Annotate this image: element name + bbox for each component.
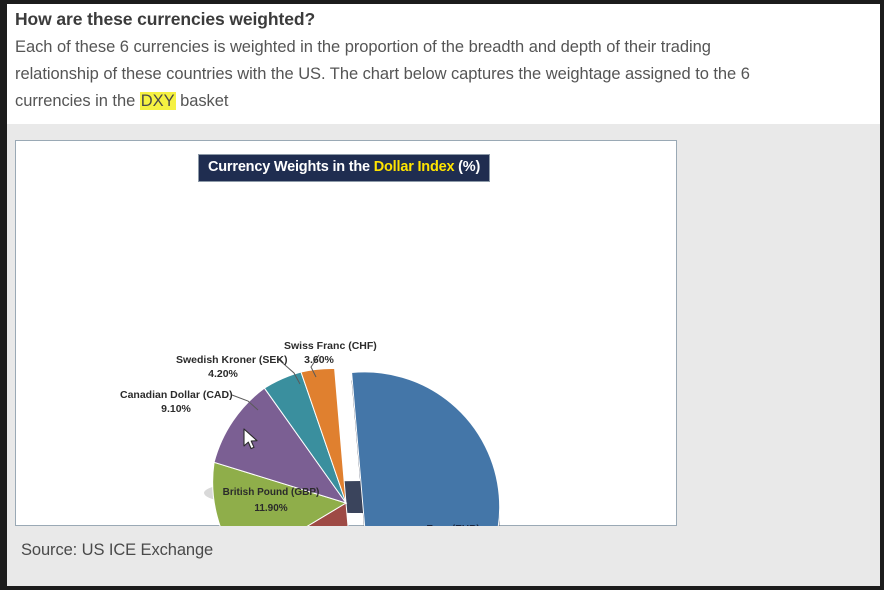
intro-block: How are these currencies weighted? Each …	[15, 8, 871, 115]
chart-title: Currency Weights in the Dollar Index (%)	[198, 154, 490, 182]
label-swiss-franc-value: 3.60%	[304, 354, 334, 366]
chart-frame[interactable]: Swiss Franc (CHF) 3.60% Swedish Kroner (…	[15, 140, 677, 526]
document-body: How are these currencies weighted? Each …	[7, 4, 880, 586]
pie-slice-euro[interactable]	[352, 372, 500, 527]
page-title: How are these currencies weighted?	[15, 8, 871, 31]
pie-label-swedish-kroner: Swedish Kroner (SEK) 4.20%	[176, 354, 287, 380]
pie-label-swiss-franc: Swiss Franc (CHF) 3.60%	[284, 340, 377, 366]
chart-title-part2: (%)	[454, 159, 480, 175]
pie-slice-euro-group[interactable]	[352, 372, 500, 527]
intro-line-3-pre: currencies in the	[15, 92, 140, 110]
pie-chart-svg[interactable]: Swiss Franc (CHF) 3.60% Swedish Kroner (…	[16, 141, 678, 527]
source-label: Source: US ICE Exchange	[21, 541, 213, 560]
label-swiss-franc-name: Swiss Franc (CHF)	[284, 340, 377, 352]
screenshot-root: How are these currencies weighted? Each …	[0, 0, 884, 590]
intro-paragraph: Each of these 6 currencies is weighted i…	[15, 34, 871, 115]
pie-label-canadian-dollar: Canadian Dollar (CAD) 9.10%	[120, 389, 233, 415]
label-british-pound-value: 11.90%	[254, 503, 287, 514]
source-strip: Source: US ICE Exchange	[7, 526, 880, 586]
pie-chart[interactable]: Swiss Franc (CHF) 3.60% Swedish Kroner (…	[16, 141, 678, 527]
chart-title-part1: Currency Weights in the	[208, 159, 374, 175]
label-canadian-dollar-value: 9.10%	[161, 403, 191, 415]
label-canadian-dollar-name: Canadian Dollar (CAD)	[120, 389, 233, 401]
intro-line-2: relationship of these countries with the…	[15, 65, 750, 83]
label-swedish-kroner-name: Swedish Kroner (SEK)	[176, 354, 287, 366]
intro-line-1: Each of these 6 currencies is weighted i…	[15, 38, 711, 56]
label-swedish-kroner-value: 4.20%	[208, 368, 238, 380]
label-british-pound-name: British Pound (GBP)	[223, 487, 320, 498]
intro-line-3-post: basket	[176, 92, 229, 110]
highlighted-term-dxy: DXY	[140, 92, 176, 110]
chart-title-accent: Dollar Index	[374, 159, 455, 175]
